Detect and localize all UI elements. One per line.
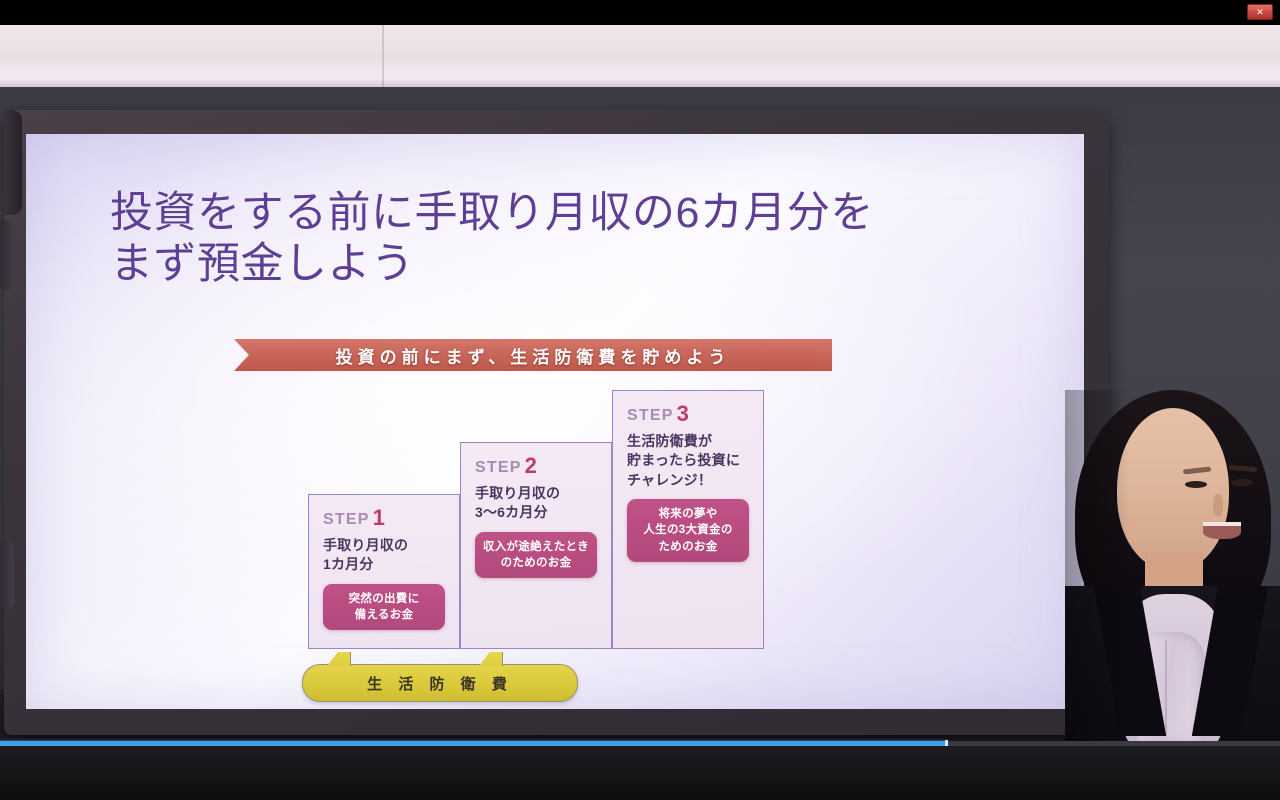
- step-1-pill-line-2: 備えるお金: [329, 607, 439, 623]
- step-3-pill: 将来の夢や 人生の3大資金の ためのお金: [627, 499, 749, 562]
- player-control-bar: 03:19: [0, 746, 1280, 800]
- video-viewport[interactable]: 投資をする前に手取り月収の6カ月分を まず預金しよう 投資の前にまず、生活防衛費…: [0, 0, 1280, 745]
- step-1-heading: STEP1: [323, 507, 445, 529]
- step-2-description: 手取り月収の 3〜6カ月分: [475, 484, 597, 523]
- slide-title-line-1: 投資をする前に手取り月収の6カ月分を: [110, 189, 874, 237]
- monitor-handle-right: [4, 110, 22, 215]
- display-monitor: 投資をする前に手取り月収の6カ月分を まず預金しよう 投資の前にまず、生活防衛費…: [4, 110, 1109, 735]
- step-2-pill-line-2: のためのお金: [481, 555, 591, 571]
- step-2-desc-line-1: 手取り月収の: [475, 484, 597, 503]
- step-1-label: STEP: [323, 511, 370, 528]
- step-2-heading: STEP2: [475, 455, 597, 477]
- step-3-desc-line-1: 生活防衛費が: [627, 432, 749, 451]
- step-3-pill-line-2: 人生の3大資金の: [633, 522, 743, 538]
- presenter-video-overlay: [1065, 390, 1280, 745]
- step-2-pill: 収入が途絶えたとき のためのお金: [475, 532, 597, 579]
- step-3-heading: STEP3: [627, 403, 749, 425]
- step-1-description: 手取り月収の 1カ月分: [323, 536, 445, 575]
- video-player-window: 投資をする前に手取り月収の6カ月分を まず預金しよう 投資の前にまず、生活防衛費…: [0, 0, 1280, 800]
- slide-title: 投資をする前に手取り月収の6カ月分を まず預金しよう: [110, 188, 990, 289]
- monitor-handle-left-bottom: [0, 540, 14, 610]
- step-1-pill: 突然の出費に 備えるお金: [323, 584, 445, 631]
- step-3-desc-line-3: チャレンジ！: [627, 471, 749, 490]
- step-3-description: 生活防衛費が 貯まったら投資に チャレンジ！: [627, 432, 749, 490]
- step-1-desc-line-2: 1カ月分: [323, 555, 445, 574]
- presenter-eye-right: [1231, 479, 1253, 486]
- slide-ribbon-banner: 投資の前にまず、生活防衛費を貯めよう: [234, 339, 832, 371]
- presentation-slide: 投資をする前に手取り月収の6カ月分を まず預金しよう 投資の前にまず、生活防衛費…: [26, 134, 1084, 709]
- presenter-face: [1117, 408, 1229, 570]
- monitor-handle-left-top: [0, 220, 14, 290]
- step-2-pill-line-1: 収入が途絶えたとき: [481, 539, 591, 555]
- step-box-2: STEP2 手取り月収の 3〜6カ月分 収入が途絶えたとき のためのお金: [460, 442, 612, 649]
- close-icon: ✕: [1256, 8, 1264, 17]
- room-ceiling-band: [0, 25, 1280, 87]
- letterbox-top: [0, 0, 1280, 25]
- yellow-summary-banner: 生 活 防 衛 費: [302, 664, 578, 702]
- step-box-1: STEP1 手取り月収の 1カ月分 突然の出費に 備えるお金: [308, 494, 460, 649]
- step-3-label: STEP: [627, 407, 674, 424]
- step-3-desc-line-2: 貯まったら投資に: [627, 451, 749, 470]
- step-2-label: STEP: [475, 459, 522, 476]
- step-1-pill-line-1: 突然の出費に: [329, 591, 439, 607]
- step-box-3: STEP3 生活防衛費が 貯まったら投資に チャレンジ！ 将来の夢や 人生の3大…: [612, 390, 764, 649]
- step-1-number: 1: [373, 505, 386, 530]
- presenter-eyebrow-left: [1183, 467, 1211, 475]
- step-3-number: 3: [677, 401, 690, 426]
- yellow-banner-text: 生 活 防 衛 費: [367, 673, 513, 694]
- presenter-mouth: [1203, 522, 1241, 539]
- ribbon-notch-right-icon: [817, 339, 832, 371]
- step-3-pill-line-1: 将来の夢や: [633, 506, 743, 522]
- presenter-eye-left: [1185, 481, 1207, 488]
- step-2-number: 2: [525, 453, 538, 478]
- close-button[interactable]: ✕: [1247, 4, 1273, 20]
- ribbon-notch-left-icon: [234, 339, 249, 371]
- presenter-nose: [1213, 494, 1223, 516]
- step-1-desc-line-1: 手取り月収の: [323, 536, 445, 555]
- ribbon-text: 投資の前にまず、生活防衛費を貯めよう: [336, 343, 731, 368]
- yellow-banner-pointer-1-icon: [327, 652, 351, 666]
- step-3-pill-line-3: ためのお金: [633, 539, 743, 555]
- step-2-desc-line-2: 3〜6カ月分: [475, 503, 597, 522]
- yellow-banner-pointer-2-icon: [479, 652, 503, 666]
- slide-title-line-2: まず預金しよう: [110, 239, 990, 290]
